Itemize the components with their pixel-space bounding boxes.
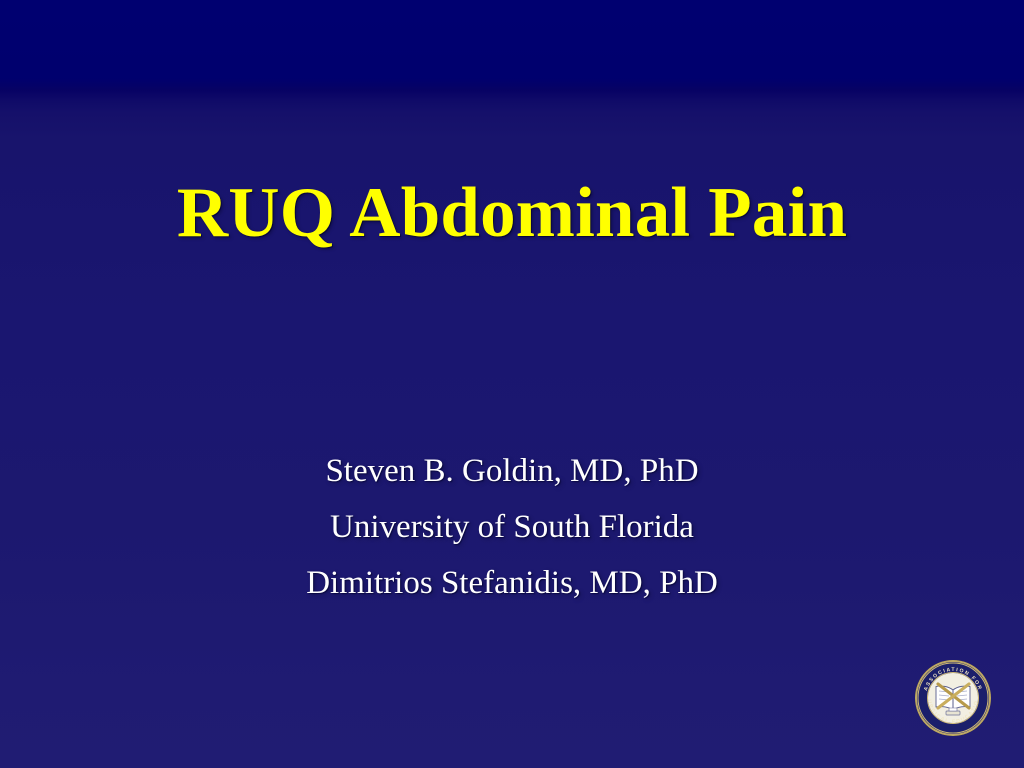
presentation-slide: RUQ Abdominal Pain Steven B. Goldin, MD,… <box>0 0 1024 768</box>
title-container: RUQ Abdominal Pain <box>0 178 1024 249</box>
association-seal-icon: ASSOCIATION FOR SURGICAL EDUCATION <box>913 658 993 738</box>
author-line-coauthor: Dimitrios Stefanidis, MD, PhD <box>0 555 1024 611</box>
organization-logo: ASSOCIATION FOR SURGICAL EDUCATION <box>913 658 993 738</box>
author-line-affiliation: University of South Florida <box>0 499 1024 555</box>
author-line-presenter: Steven B. Goldin, MD, PhD <box>0 443 1024 499</box>
page-title: RUQ Abdominal Pain <box>177 178 847 249</box>
author-block: Steven B. Goldin, MD, PhD University of … <box>0 443 1024 611</box>
